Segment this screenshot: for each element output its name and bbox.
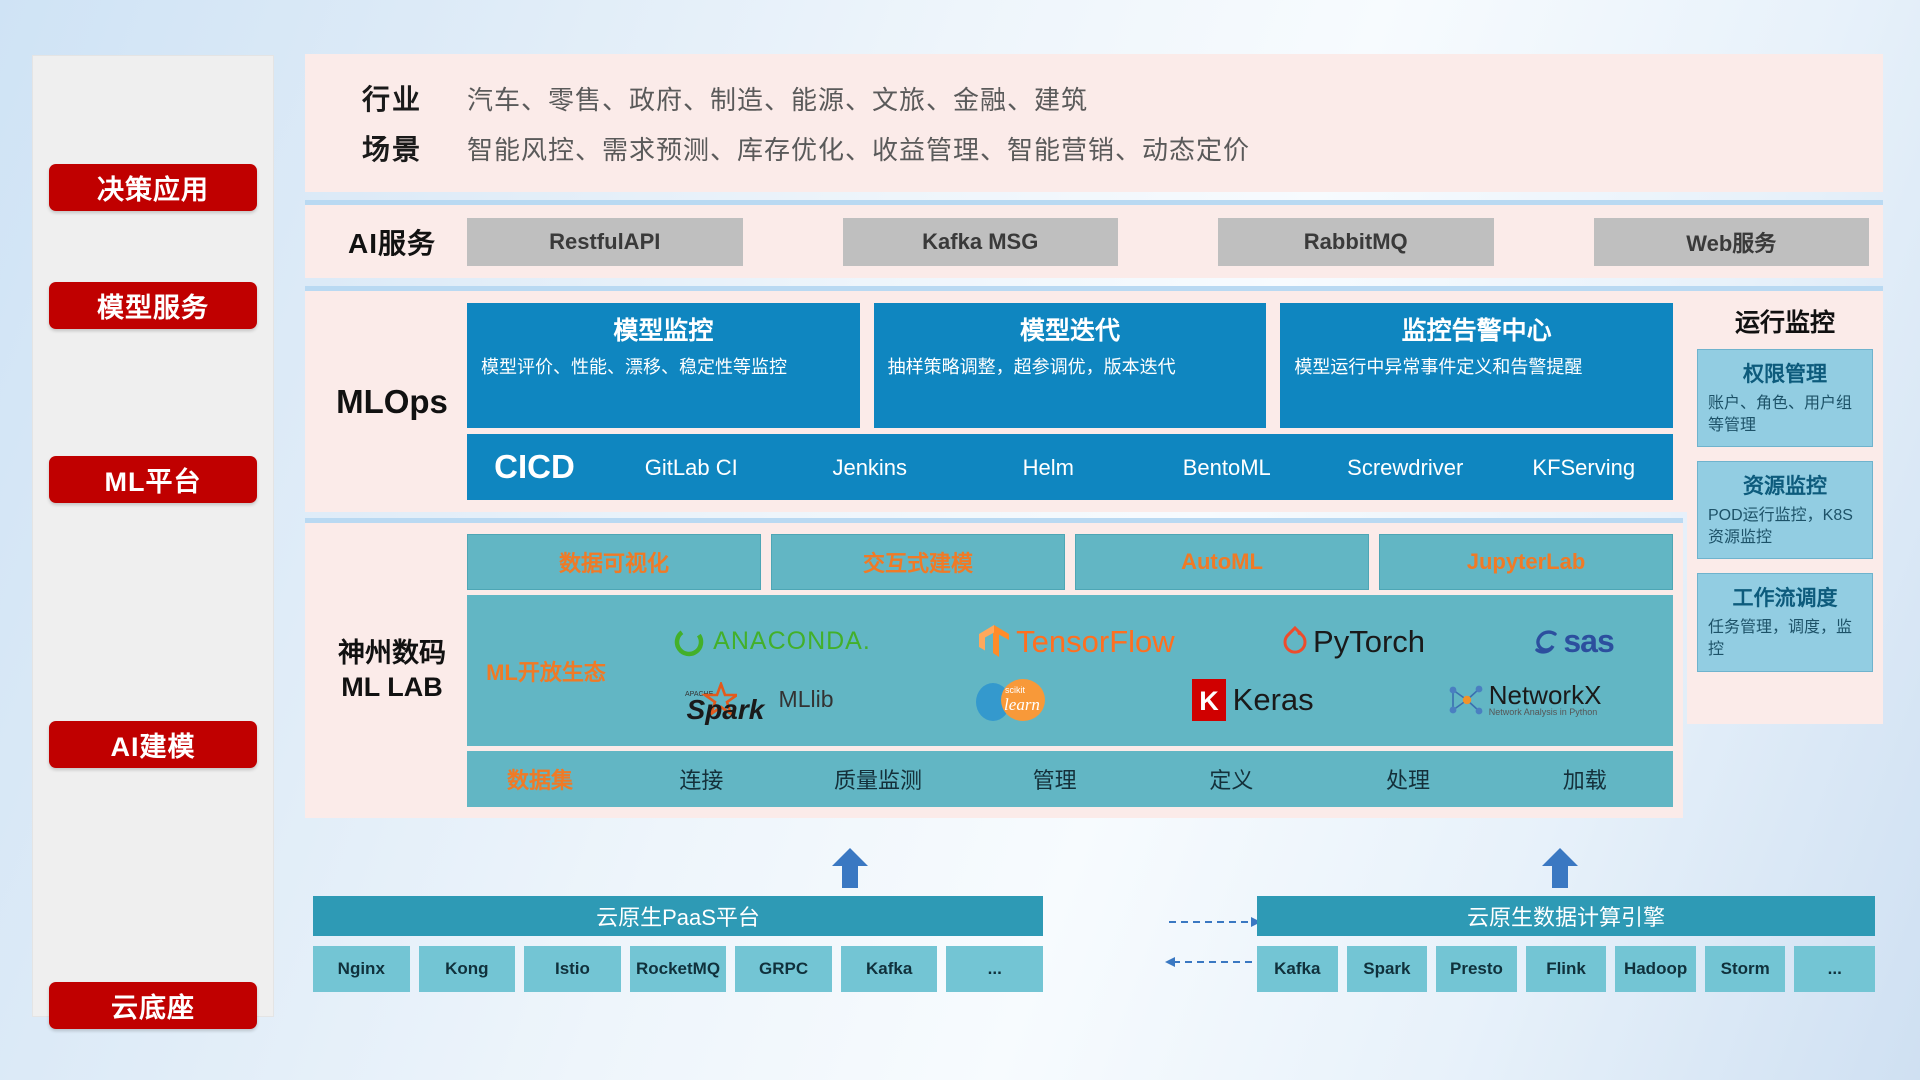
ml-lab-label: 神州数码 ML LAB xyxy=(317,637,467,705)
dataset-label: 数据集 xyxy=(467,763,613,795)
left-rail: 决策应用 模型服务 ML平台 AI建模 云底座 xyxy=(33,56,273,1016)
engine-chip[interactable]: Flink xyxy=(1526,946,1607,992)
mlops-card-desc: 模型运行中异常事件定义和告警提醒 xyxy=(1294,355,1659,379)
anaconda-logo: ANACONDA. xyxy=(672,625,871,659)
monitor-card-title: 工作流调度 xyxy=(1708,582,1862,612)
rail-tag-ml-platform[interactable]: ML平台 xyxy=(49,456,257,503)
data-compute-engine-title: 云原生数据计算引擎 xyxy=(1467,900,1665,932)
pytorch-label: PyTorch xyxy=(1313,624,1425,660)
runtime-monitoring-title: 运行监控 xyxy=(1697,291,1873,349)
ai-service-band: AI服务 RestfulAPI Kafka MSG RabbitMQ Web服务 xyxy=(305,200,1883,278)
spark-mllib-logo: APACHE Spark MLlib xyxy=(685,682,834,718)
anaconda-label: ANACONDA. xyxy=(713,627,871,656)
ml-lab-label-line1: 神州数码 xyxy=(317,637,467,671)
rail-tag-cloud-base[interactable]: 云底座 xyxy=(49,982,257,1029)
ai-service-chip-list: RestfulAPI Kafka MSG RabbitMQ Web服务 xyxy=(467,218,1869,266)
rail-tag-model-service[interactable]: 模型服务 xyxy=(49,282,257,329)
bidirectional-dashed-connector-icon xyxy=(1165,900,1261,1000)
paas-chip[interactable]: Kong xyxy=(419,946,516,992)
dataset-row: 数据集 连接 质量监测 管理 定义 处理 加载 xyxy=(467,751,1673,807)
cloud-base-layer: 云原生PaaS平台 云原生数据计算引擎 Nginx Kong Istio Roc… xyxy=(305,840,1883,1040)
ai-service-label: AI服务 xyxy=(317,222,467,262)
engine-chip[interactable]: Storm xyxy=(1705,946,1786,992)
paas-chip-list: Nginx Kong Istio RocketMQ GRPC Kafka ... xyxy=(313,946,1043,992)
industry-values: 汽车、零售、政府、制造、能源、文旅、金融、建筑 xyxy=(467,80,1088,117)
monitor-card-resource[interactable]: 资源监控 POD运行监控，K8S资源监控 xyxy=(1697,461,1873,559)
rail-tag-label: AI建模 xyxy=(111,725,196,764)
monitor-card-title: 资源监控 xyxy=(1708,470,1862,500)
rail-tag-label: 决策应用 xyxy=(97,168,209,207)
monitor-card-title: 权限管理 xyxy=(1708,358,1862,388)
arrow-up-icon xyxy=(1540,848,1580,888)
rail-tag-decision-app[interactable]: 决策应用 xyxy=(49,164,257,211)
eco-logo-row-2: APACHE Spark MLlib scikit xyxy=(619,672,1667,728)
networkx-label: NetworkX xyxy=(1489,682,1602,708)
mlops-card-list: 模型监控 模型评价、性能、漂移、稳定性等监控 模型迭代 抽样策略调整，超参调优，… xyxy=(467,303,1673,428)
tensorflow-label: TensorFlow xyxy=(1016,624,1175,660)
engine-chip[interactable]: Spark xyxy=(1347,946,1428,992)
tensorflow-logo: TensorFlow xyxy=(977,623,1175,661)
industry-label: 行业 xyxy=(317,78,467,118)
dataset-item[interactable]: 处理 xyxy=(1320,763,1497,795)
mlops-card-title: 模型监控 xyxy=(481,311,846,347)
cicd-item[interactable]: KFServing xyxy=(1495,456,1674,479)
data-compute-engine-bar[interactable]: 云原生数据计算引擎 xyxy=(1257,896,1875,936)
paas-chip[interactable]: RocketMQ xyxy=(630,946,727,992)
engine-chip[interactable]: Hadoop xyxy=(1615,946,1696,992)
mllib-label: MLlib xyxy=(779,686,834,713)
paas-chip[interactable]: GRPC xyxy=(735,946,832,992)
scenario-label: 场景 xyxy=(317,128,467,168)
mlops-card-desc: 抽样策略调整，超参调优，版本迭代 xyxy=(888,355,1253,379)
scikit-learn-icon: scikit learn xyxy=(965,678,1061,722)
ai-service-chip[interactable]: RestfulAPI xyxy=(467,218,743,266)
monitor-card-permission[interactable]: 权限管理 账户、角色、用户组等管理 xyxy=(1697,349,1873,447)
ml-open-ecosystem: ML开放生态 ANACONDA. xyxy=(467,595,1673,746)
keras-logo: K Keras xyxy=(1192,679,1314,721)
monitor-card-desc: 任务管理，调度，监控 xyxy=(1708,617,1862,660)
mlops-card-title: 监控告警中心 xyxy=(1294,311,1659,347)
cicd-item[interactable]: Jenkins xyxy=(781,456,960,479)
mlops-card-title: 模型迭代 xyxy=(888,311,1253,347)
rail-tag-label: 模型服务 xyxy=(97,286,209,325)
cicd-item[interactable]: BentoML xyxy=(1138,456,1317,479)
spark-wordmark: Spark xyxy=(687,694,765,726)
ml-lab-tool[interactable]: AutoML xyxy=(1075,534,1369,590)
engine-chip[interactable]: ... xyxy=(1794,946,1875,992)
scenario-values: 智能风控、需求预测、库存优化、收益管理、智能营销、动态定价 xyxy=(467,130,1250,167)
ml-lab-band: 神州数码 ML LAB 数据可视化 交互式建模 AutoML JupyterLa… xyxy=(305,518,1683,818)
mlops-card[interactable]: 监控告警中心 模型运行中异常事件定义和告警提醒 xyxy=(1280,303,1673,428)
rail-tag-label: 云底座 xyxy=(111,986,195,1025)
mlops-label: MLOps xyxy=(317,383,467,421)
dataset-item[interactable]: 加载 xyxy=(1496,763,1673,795)
eco-logo-row-1: ANACONDA. TensorFlow xyxy=(619,614,1667,670)
sas-label: sas xyxy=(1563,623,1613,660)
cicd-item[interactable]: Helm xyxy=(959,456,1138,479)
paas-chip[interactable]: Istio xyxy=(524,946,621,992)
dataset-item[interactable]: 连接 xyxy=(613,763,790,795)
cicd-bar: CICD GitLab CI Jenkins Helm BentoML Scre… xyxy=(467,434,1673,500)
rail-tag-label: ML平台 xyxy=(105,460,202,499)
mlops-card-desc: 模型评价、性能、漂移、稳定性等监控 xyxy=(481,355,846,379)
sas-icon xyxy=(1531,627,1561,657)
ml-lab-tool[interactable]: 交互式建模 xyxy=(771,534,1065,590)
svg-text:K: K xyxy=(1199,686,1219,716)
ml-lab-tool[interactable]: 数据可视化 xyxy=(467,534,761,590)
svg-text:scikit: scikit xyxy=(1005,685,1025,695)
paas-chip[interactable]: Nginx xyxy=(313,946,410,992)
keras-icon: K xyxy=(1192,679,1226,721)
paas-platform-title: 云原生PaaS平台 xyxy=(596,900,760,932)
cicd-item[interactable]: Screwdriver xyxy=(1316,456,1495,479)
paas-platform-bar[interactable]: 云原生PaaS平台 xyxy=(313,896,1043,936)
sas-logo: sas xyxy=(1531,623,1613,660)
dataset-item[interactable]: 管理 xyxy=(966,763,1143,795)
networkx-logo: NetworkX Network Analysis in Python xyxy=(1445,680,1602,720)
tensorflow-icon xyxy=(977,623,1011,661)
paas-chip[interactable]: ... xyxy=(946,946,1043,992)
ml-lab-tool[interactable]: JupyterLab xyxy=(1379,534,1673,590)
svg-text:learn: learn xyxy=(1004,695,1040,714)
industry-row: 行业 汽车、零售、政府、制造、能源、文旅、金融、建筑 xyxy=(317,73,1883,123)
decision-applications-band: 行业 汽车、零售、政府、制造、能源、文旅、金融、建筑 场景 智能风控、需求预测、… xyxy=(305,54,1883,192)
runtime-monitoring-column: 运行监控 权限管理 账户、角色、用户组等管理 资源监控 POD运行监控，K8S资… xyxy=(1687,286,1883,724)
cicd-title: CICD xyxy=(467,448,602,486)
pytorch-icon xyxy=(1281,625,1309,659)
keras-label: Keras xyxy=(1233,682,1314,718)
scikit-learn-logo: scikit learn xyxy=(965,678,1061,722)
cicd-item[interactable]: GitLab CI xyxy=(602,456,781,479)
ml-lab-label-line2: ML LAB xyxy=(317,671,467,705)
dataset-item[interactable]: 质量监测 xyxy=(790,763,967,795)
engine-chip[interactable]: Kafka xyxy=(1257,946,1338,992)
mlops-card[interactable]: 模型监控 模型评价、性能、漂移、稳定性等监控 xyxy=(467,303,860,428)
networkx-sublabel: Network Analysis in Python xyxy=(1489,708,1602,717)
engine-chip[interactable]: Presto xyxy=(1436,946,1517,992)
engine-chip-list: Kafka Spark Presto Flink Hadoop Storm ..… xyxy=(1257,946,1875,992)
mlops-card[interactable]: 模型迭代 抽样策略调整，超参调优，版本迭代 xyxy=(874,303,1267,428)
dataset-item[interactable]: 定义 xyxy=(1143,763,1320,795)
networkx-icon xyxy=(1445,680,1485,720)
anaconda-icon xyxy=(672,625,706,659)
ml-open-ecosystem-label: ML开放生态 xyxy=(473,655,619,687)
arrow-up-icon xyxy=(830,848,870,888)
ml-lab-tool-list: 数据可视化 交互式建模 AutoML JupyterLab xyxy=(467,534,1673,590)
monitor-card-desc: POD运行监控，K8S资源监控 xyxy=(1708,505,1862,548)
ai-service-chip[interactable]: Web服务 xyxy=(1594,218,1870,266)
monitor-card-workflow[interactable]: 工作流调度 任务管理，调度，监控 xyxy=(1697,573,1873,671)
scenario-row: 场景 智能风控、需求预测、库存优化、收益管理、智能营销、动态定价 xyxy=(317,123,1883,173)
rail-tag-ai-modeling[interactable]: AI建模 xyxy=(49,721,257,768)
monitor-card-desc: 账户、角色、用户组等管理 xyxy=(1708,393,1862,436)
paas-chip[interactable]: Kafka xyxy=(841,946,938,992)
ai-service-chip[interactable]: Kafka MSG xyxy=(843,218,1119,266)
ai-service-chip[interactable]: RabbitMQ xyxy=(1218,218,1494,266)
mlops-band: MLOps 模型监控 模型评价、性能、漂移、稳定性等监控 模型迭代 抽样策略调整… xyxy=(305,286,1883,512)
pytorch-logo: PyTorch xyxy=(1281,624,1425,660)
